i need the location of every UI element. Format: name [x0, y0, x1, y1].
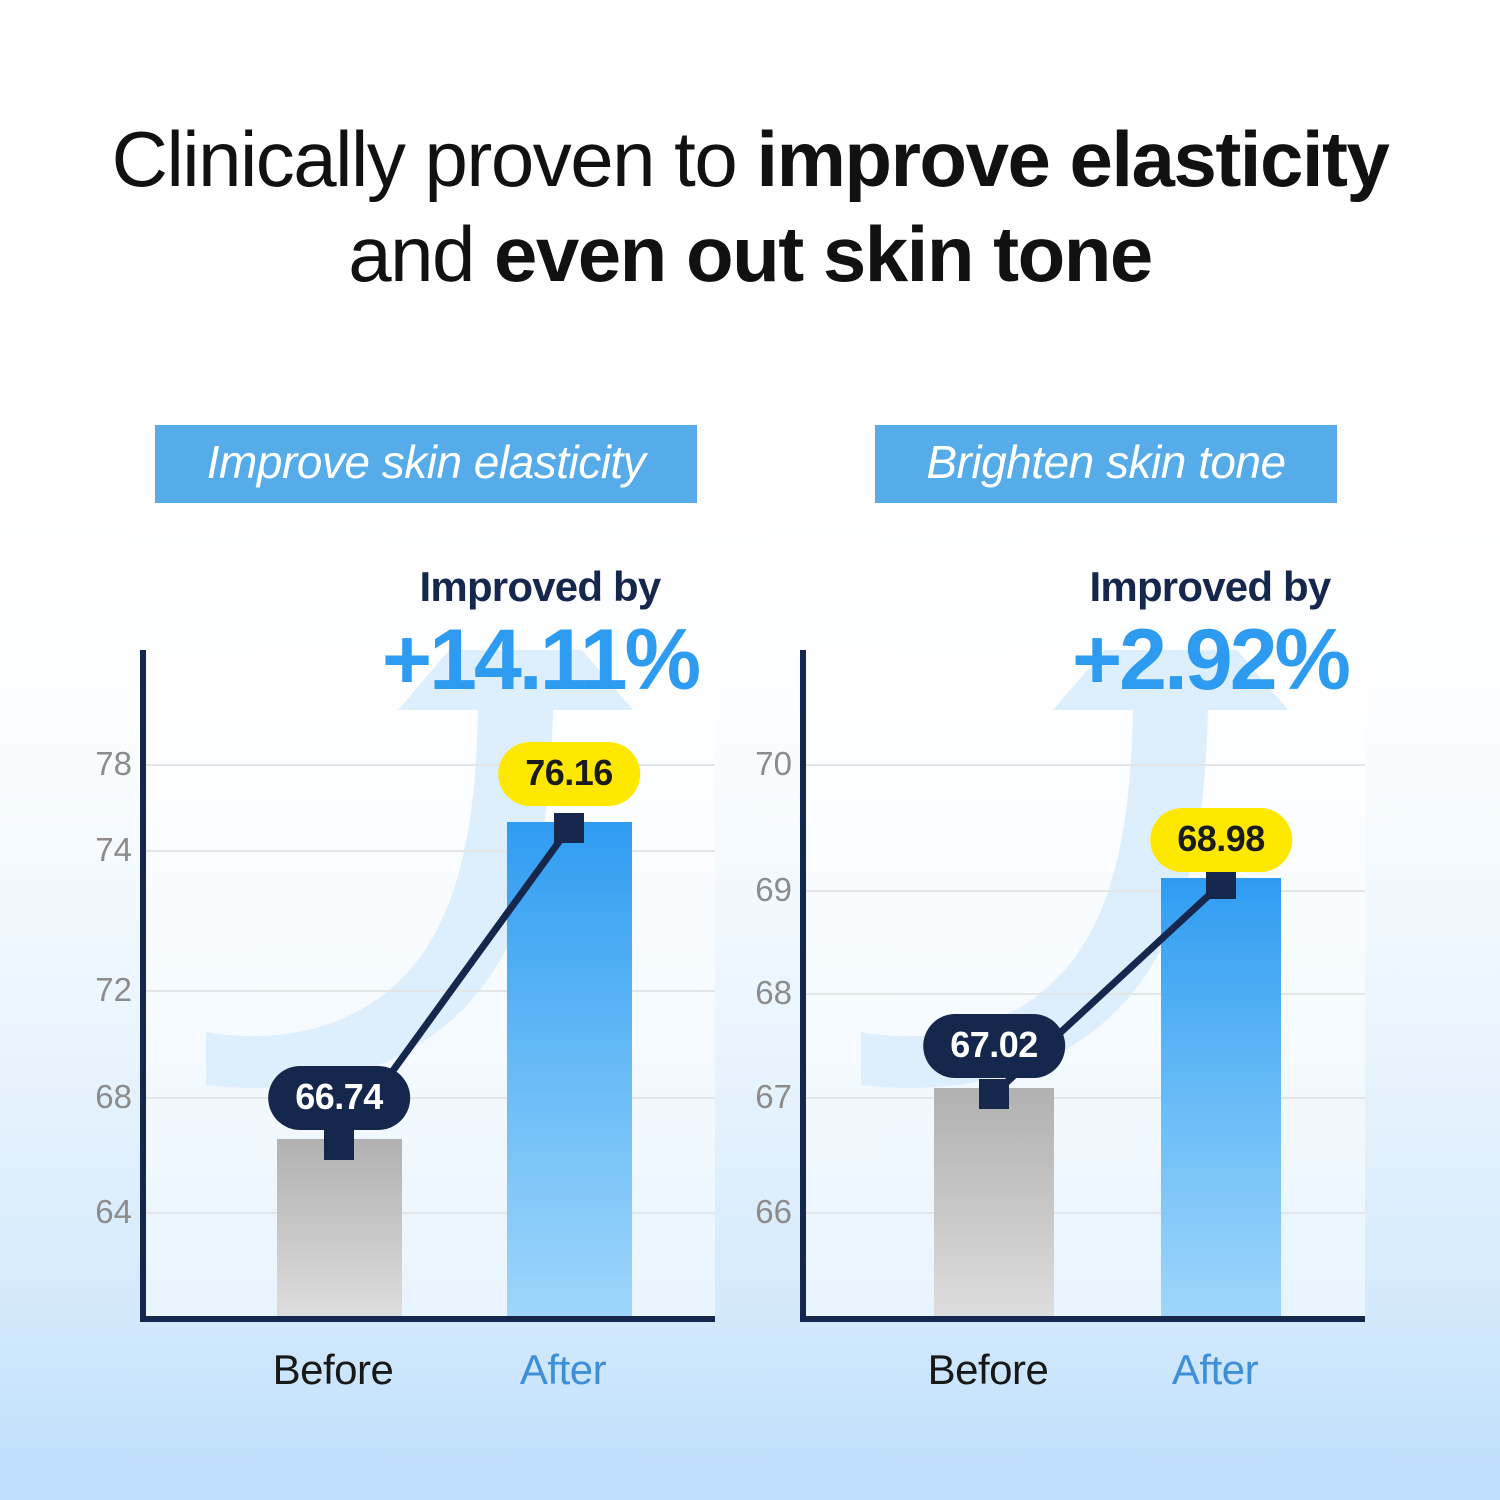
- gridline: [806, 993, 1365, 995]
- headline-regular-2: and: [348, 210, 494, 298]
- headline-line-1: Clinically proven to improve elasticity: [0, 112, 1500, 207]
- headline-bold-2: even out skin tone: [494, 210, 1152, 298]
- section-badge-skin-tone: Brighten skin tone: [875, 425, 1337, 503]
- gridline: [806, 1097, 1365, 1099]
- value-pill-after-elasticity: 76.16: [498, 742, 640, 806]
- y-tick-label: 78: [95, 745, 132, 783]
- y-tick-label: 68: [755, 974, 792, 1012]
- y-tick-label: 64: [95, 1193, 132, 1231]
- y-tick-label: 74: [95, 831, 132, 869]
- data-marker-before-elasticity: [324, 1130, 354, 1160]
- bar-after-elasticity: [507, 822, 632, 1316]
- infographic-page: Clinically proven to improve elasticity …: [0, 0, 1500, 1500]
- gridline: [806, 890, 1365, 892]
- chart-elasticity: 78 74 72 68 64 66.74 76.16 Before After: [85, 650, 725, 1350]
- improved-by-label-elasticity: Improved by: [340, 565, 740, 609]
- y-tick-label: 68: [95, 1078, 132, 1116]
- panel-skin-tone: Brighten skin tone: [875, 425, 1370, 503]
- x-label-before-skin-tone: Before: [928, 1346, 1049, 1394]
- gridline: [806, 764, 1365, 766]
- y-tick-label: 70: [755, 745, 792, 783]
- value-pill-after-skin-tone: 68.98: [1150, 808, 1292, 872]
- x-label-before-elasticity: Before: [273, 1346, 394, 1394]
- plot-area-skin-tone: 70 69 68 67 66 67.02 68.98: [800, 650, 1365, 1322]
- y-tick-label: 67: [755, 1078, 792, 1116]
- headline-regular-1: Clinically proven to: [112, 115, 757, 203]
- improved-by-label-skin-tone: Improved by: [1010, 565, 1410, 609]
- headline-bold-1: improve elasticity: [756, 115, 1388, 203]
- value-pill-before-skin-tone: 67.02: [923, 1014, 1065, 1078]
- plot-background-skin-tone: [806, 650, 1365, 1316]
- x-label-after-elasticity: After: [520, 1346, 606, 1394]
- panel-elasticity: Improve skin elasticity: [155, 425, 730, 503]
- x-label-after-skin-tone: After: [1172, 1346, 1258, 1394]
- chart-skin-tone: 70 69 68 67 66 67.02 68.98 Before After: [745, 650, 1385, 1350]
- bar-after-skin-tone: [1161, 878, 1281, 1316]
- data-marker-before-skin-tone: [979, 1079, 1009, 1109]
- y-tick-label: 72: [95, 971, 132, 1009]
- bar-before-elasticity: [277, 1139, 402, 1316]
- page-title: Clinically proven to improve elasticity …: [0, 112, 1500, 302]
- section-badge-elasticity: Improve skin elasticity: [155, 425, 697, 503]
- value-pill-before-elasticity: 66.74: [268, 1066, 410, 1130]
- y-tick-label: 69: [755, 871, 792, 909]
- y-tick-label: 66: [755, 1193, 792, 1231]
- plot-area-elasticity: 78 74 72 68 64 66.74 76.16: [140, 650, 715, 1322]
- gridline: [806, 1212, 1365, 1214]
- data-marker-after-elasticity: [554, 813, 584, 843]
- data-marker-after-skin-tone: [1206, 869, 1236, 899]
- headline-line-2: and even out skin tone: [0, 207, 1500, 302]
- bar-before-skin-tone: [934, 1088, 1054, 1316]
